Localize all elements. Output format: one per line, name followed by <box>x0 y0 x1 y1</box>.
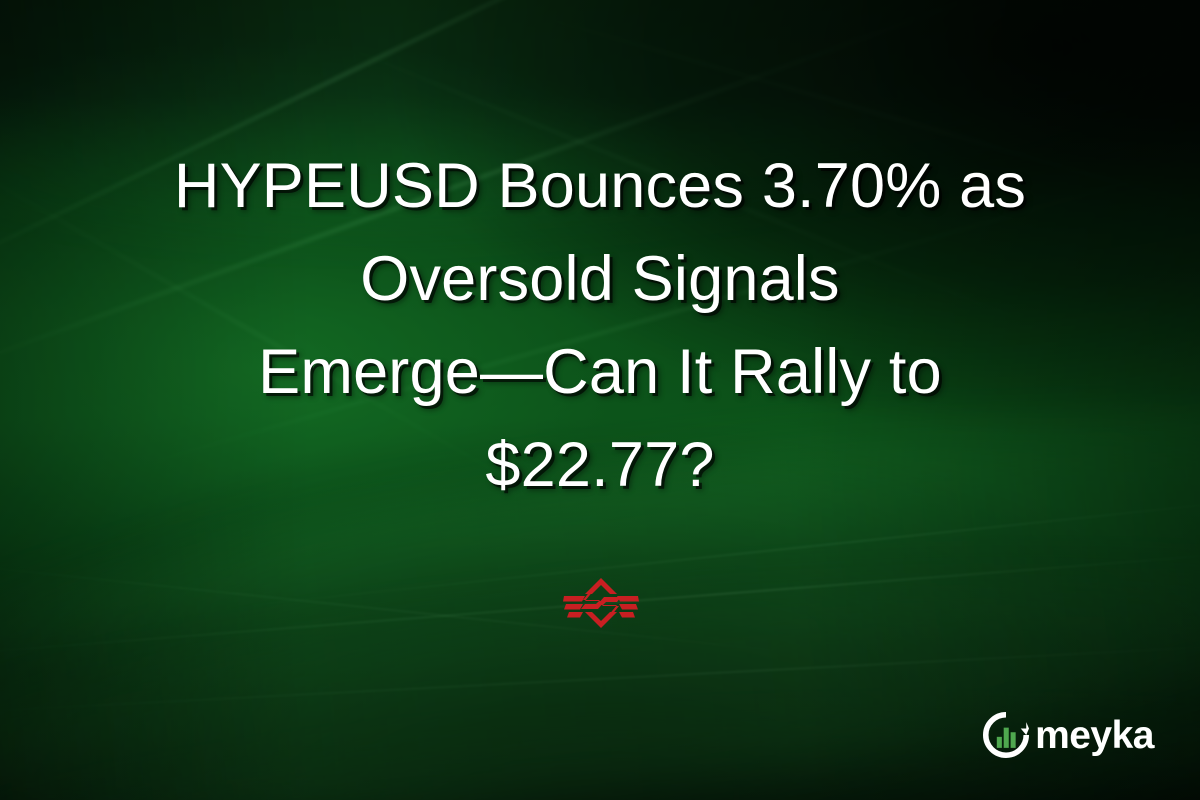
social-share-card: HYPEUSD Bounces 3.70% as Oversold Signal… <box>0 0 1200 800</box>
meyka-chart-ring-logo-icon <box>983 712 1029 758</box>
headline-line-4: $22.77? <box>48 419 1152 512</box>
meyka-brand-lockup: meyka <box>983 712 1154 758</box>
meyka-wordmark: meyka <box>1035 716 1154 755</box>
headline-line-1: HYPEUSD Bounces 3.70% as <box>48 140 1152 233</box>
headline-line-2: Oversold Signals <box>48 233 1152 326</box>
hyperliquid-emblem-icon <box>563 578 639 628</box>
headline-line-3: Emerge—Can It Rally to <box>48 326 1152 419</box>
headline: HYPEUSD Bounces 3.70% as Oversold Signal… <box>0 140 1200 512</box>
